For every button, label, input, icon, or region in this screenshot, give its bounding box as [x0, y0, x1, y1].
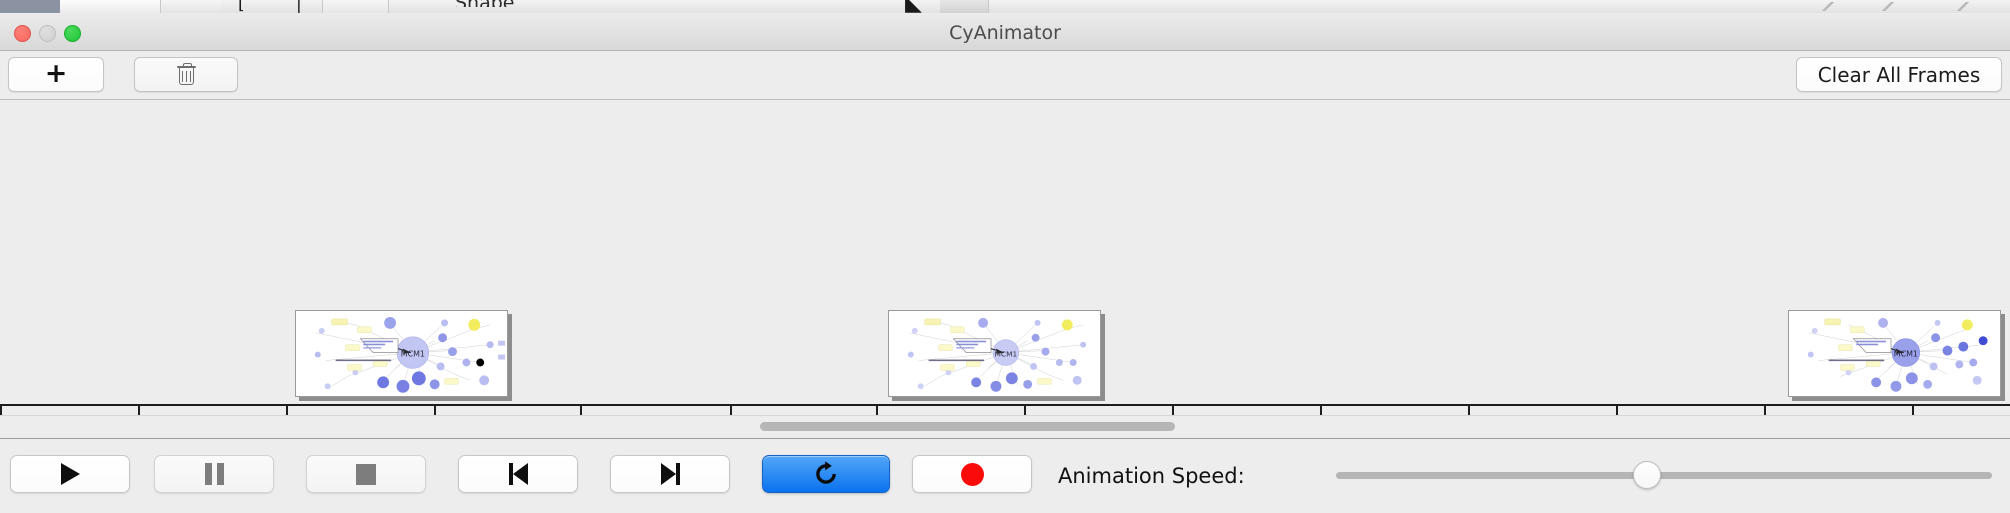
background-window-strip: [ | Shape ◣	[0, 0, 2010, 13]
axis-tick-minor	[1320, 406, 1322, 415]
timeline-scrollbar-thumb[interactable]	[760, 422, 1175, 431]
background-toolbar-chunk	[60, 0, 160, 13]
clear-all-frames-button[interactable]: Clear All Frames	[1796, 57, 2002, 92]
add-frame-button[interactable]: +	[8, 57, 104, 92]
skip-to-start-button[interactable]	[458, 455, 578, 493]
svg-text:MCM1: MCM1	[1894, 350, 1918, 359]
pause-button[interactable]	[154, 455, 274, 493]
frame-thumbnail-3[interactable]: MCM1	[1788, 310, 2001, 397]
axis-tick-18	[1764, 406, 1766, 415]
svg-text:MCM1: MCM1	[995, 350, 1018, 359]
frame-toolbar: + Clear All Frames	[0, 51, 2010, 100]
background-window-sidebar	[0, 0, 60, 13]
animation-speed-slider-thumb[interactable]	[1633, 461, 1661, 489]
axis-tick-14	[580, 406, 582, 415]
axis-tick-12	[0, 406, 2, 415]
animation-speed-slider[interactable]	[1336, 472, 1992, 479]
animation-speed-label: Animation Speed:	[1058, 464, 1245, 488]
skip-forward-icon	[661, 463, 680, 485]
background-arrow-icon	[1955, 2, 1969, 11]
axis-tick-16	[1172, 406, 1174, 415]
window-title: CyAnimator	[0, 22, 2010, 44]
background-window-label: Shape	[455, 0, 515, 7]
record-icon	[961, 463, 984, 486]
background-glyph-wedge: ◣	[905, 0, 922, 13]
axis-tick-13	[286, 406, 288, 415]
axis-tick-minor	[138, 406, 140, 415]
background-toolbar-chunk	[323, 0, 388, 13]
frame-card: MCM1	[295, 310, 508, 397]
skip-to-end-button[interactable]	[610, 455, 730, 493]
background-glyph-bar: |	[296, 0, 302, 13]
background-arrow-icon	[1820, 2, 1834, 11]
timeline-axis	[0, 404, 2010, 406]
axis-tick-minor	[1616, 406, 1618, 415]
pause-icon	[205, 463, 224, 485]
background-divider	[988, 0, 989, 13]
skip-back-icon	[509, 463, 528, 485]
background-toolbar-chunk	[161, 0, 221, 13]
frame-thumbnail-2[interactable]: MCM1	[888, 310, 1101, 397]
axis-tick-17	[1468, 406, 1470, 415]
frame-card: MCM1	[888, 310, 1101, 397]
play-button[interactable]	[10, 455, 130, 493]
axis-tick-minor	[1024, 406, 1026, 415]
loop-icon	[813, 461, 839, 487]
background-arrow-icon	[1880, 2, 1894, 11]
play-icon	[61, 463, 80, 485]
record-button[interactable]	[912, 455, 1032, 493]
stop-button[interactable]	[306, 455, 426, 493]
playback-toolbar: Animation Speed:	[0, 438, 2010, 513]
network-preview-icon: MCM1	[889, 311, 1100, 397]
axis-tick-minor	[730, 406, 732, 415]
svg-text:MCM1: MCM1	[401, 350, 425, 359]
timeline-scrollbar[interactable]	[0, 415, 2010, 438]
cyanimator-window: CyAnimator + Clear All Frames	[0, 13, 2010, 510]
frame-card: MCM1	[1788, 310, 2001, 397]
background-toolbar-chunk	[940, 0, 988, 13]
background-divider	[388, 0, 389, 13]
loop-button[interactable]	[762, 455, 890, 493]
network-preview-icon: MCM1	[1789, 311, 2000, 397]
trash-icon	[177, 64, 196, 86]
axis-tick-15	[876, 406, 878, 415]
stop-icon	[356, 464, 376, 485]
clear-all-frames-label: Clear All Frames	[1818, 63, 1981, 87]
network-preview-icon: MCM1	[296, 311, 507, 397]
frame-thumbnail-1[interactable]: MCM1	[295, 310, 508, 397]
axis-tick-minor	[434, 406, 436, 415]
title-bar[interactable]: CyAnimator	[0, 13, 2010, 51]
timeline-panel[interactable]: MCM1	[0, 100, 2010, 415]
axis-tick-minor	[1912, 406, 1914, 415]
delete-frame-button[interactable]	[134, 57, 238, 92]
background-glyph-bracket: [	[238, 0, 245, 13]
